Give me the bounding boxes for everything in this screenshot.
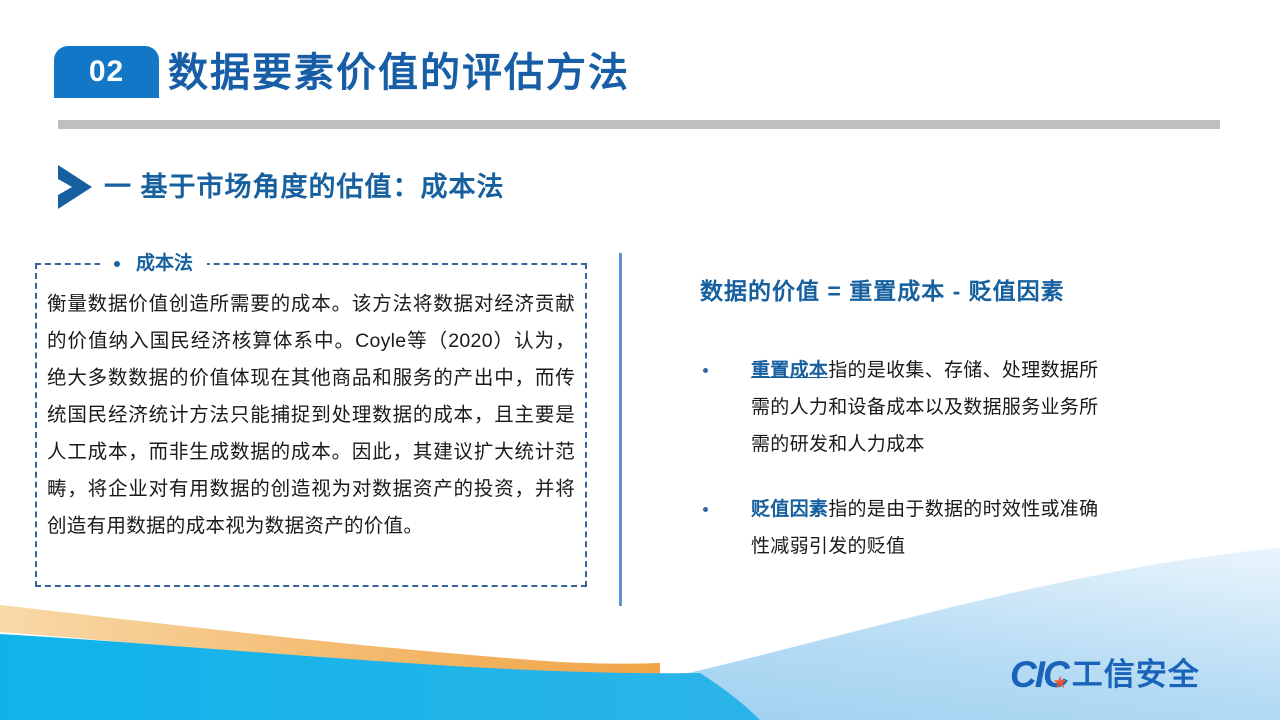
list-item-keyword: 贬值因素	[751, 499, 828, 520]
definition-list: 重置成本指的是收集、存储、处理数据所需的人力和设备成本以及数据服务业务所需的研发…	[697, 352, 1117, 593]
logo-mark: CIC ★	[1010, 656, 1068, 693]
section-heading: 一 基于市场角度的估值：成本法	[104, 168, 505, 206]
list-item: 重置成本指的是收集、存储、处理数据所需的人力和设备成本以及数据服务业务所需的研发…	[697, 352, 1117, 463]
section-number-badge: 02	[54, 46, 159, 98]
page-title: 数据要素价值的评估方法	[168, 44, 630, 102]
bullet-dot-icon	[114, 261, 120, 267]
star-icon: ★	[1052, 674, 1065, 691]
column-divider	[619, 253, 622, 606]
value-formula: 数据的价值 = 重置成本 - 贬值因素	[700, 275, 1065, 307]
logo: CIC ★ 工信安全	[1010, 656, 1200, 693]
panel-label: 成本法	[100, 251, 207, 277]
header-divider	[58, 120, 1220, 129]
list-item-keyword: 重置成本	[751, 360, 828, 381]
chevron-right-icon	[54, 163, 98, 211]
slide-canvas: 02 数据要素价值的评估方法 一 基于市场角度的估值：成本法 成本法 衡量数据价…	[0, 0, 1280, 720]
bullet-dot-icon	[703, 368, 708, 373]
cost-method-body: 衡量数据价值创造所需要的成本。该方法将数据对经济贡献的价值纳入国民经济核算体系中…	[47, 286, 575, 545]
panel-label-text: 成本法	[136, 251, 193, 277]
logo-name: 工信安全	[1072, 659, 1200, 690]
list-item: 贬值因素指的是由于数据的时效性或准确性减弱引发的贬值	[697, 491, 1117, 565]
bullet-dot-icon	[703, 507, 708, 512]
